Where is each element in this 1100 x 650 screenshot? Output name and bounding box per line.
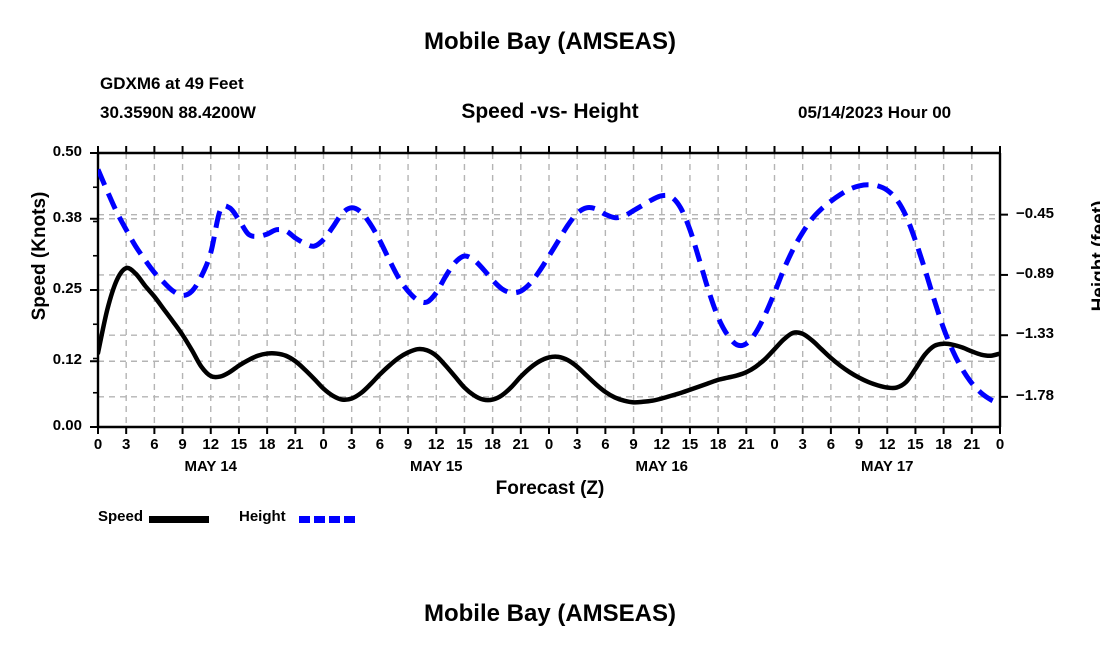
- x-axis-tick-label: 6: [590, 436, 620, 453]
- x-axis-tick-label: 9: [844, 436, 874, 453]
- legend-label-speed: Speed: [98, 508, 143, 525]
- x-axis-tick-label: 12: [421, 436, 451, 453]
- x-axis-tick-label: 3: [111, 436, 141, 453]
- x-axis-tick-label: 18: [929, 436, 959, 453]
- x-axis-tick-label: 15: [900, 436, 930, 453]
- footer-title: Mobile Bay (AMSEAS): [0, 600, 1100, 628]
- x-axis-day-label: MAY 14: [156, 458, 266, 475]
- x-axis-tick-label: 12: [647, 436, 677, 453]
- x-axis-tick-label: 3: [337, 436, 367, 453]
- x-axis-tick-label: 9: [619, 436, 649, 453]
- x-axis-tick-label: 0: [309, 436, 339, 453]
- x-axis-tick-label: 0: [760, 436, 790, 453]
- x-axis-tick-label: 18: [478, 436, 508, 453]
- x-axis-day-label: MAY 15: [381, 458, 491, 475]
- x-axis-day-label: MAY 17: [832, 458, 942, 475]
- x-axis-tick-label: 21: [506, 436, 536, 453]
- x-axis-tick-label: 12: [196, 436, 226, 453]
- x-axis-tick-label: 0: [83, 436, 113, 453]
- x-axis-tick-label: 15: [449, 436, 479, 453]
- y-axis-left-tick-label: 0.38: [22, 209, 82, 226]
- x-axis-tick-label: 18: [703, 436, 733, 453]
- y-axis-left-tick-label: 0.50: [22, 143, 82, 160]
- legend-label-height: Height: [239, 508, 286, 525]
- y-axis-left-tick-label: 0.25: [22, 280, 82, 297]
- x-axis-tick-label: 15: [224, 436, 254, 453]
- y-axis-right-tick-label: −0.89: [1016, 265, 1086, 282]
- y-axis-left-tick-label: 0.00: [22, 417, 82, 434]
- x-axis-tick-label: 6: [816, 436, 846, 453]
- x-axis-tick-label: 3: [788, 436, 818, 453]
- chart-figure: Mobile Bay (AMSEAS) GDXM6 at 49 Feet 30.…: [0, 0, 1100, 650]
- plot-area: [0, 0, 1100, 650]
- y-axis-left-tick-label: 0.12: [22, 351, 82, 368]
- y-axis-right-tick-label: −1.33: [1016, 325, 1086, 342]
- x-axis-tick-label: 6: [139, 436, 169, 453]
- x-axis-tick-label: 21: [957, 436, 987, 453]
- y-axis-right-tick-label: −1.78: [1016, 387, 1086, 404]
- x-axis-tick-label: 0: [534, 436, 564, 453]
- y-axis-right-tick-label: −0.45: [1016, 205, 1086, 222]
- x-axis-tick-label: 9: [393, 436, 423, 453]
- x-axis-tick-label: 3: [562, 436, 592, 453]
- x-axis-tick-label: 0: [985, 436, 1015, 453]
- x-axis-tick-label: 9: [168, 436, 198, 453]
- x-axis-tick-label: 6: [365, 436, 395, 453]
- legend-swatch-height: [299, 516, 359, 523]
- x-axis-tick-label: 15: [675, 436, 705, 453]
- x-axis-tick-label: 18: [252, 436, 282, 453]
- x-axis-tick-label: 12: [872, 436, 902, 453]
- x-axis-tick-label: 21: [731, 436, 761, 453]
- x-axis-day-label: MAY 16: [607, 458, 717, 475]
- legend-swatch-speed: [149, 516, 209, 523]
- x-axis-tick-label: 21: [280, 436, 310, 453]
